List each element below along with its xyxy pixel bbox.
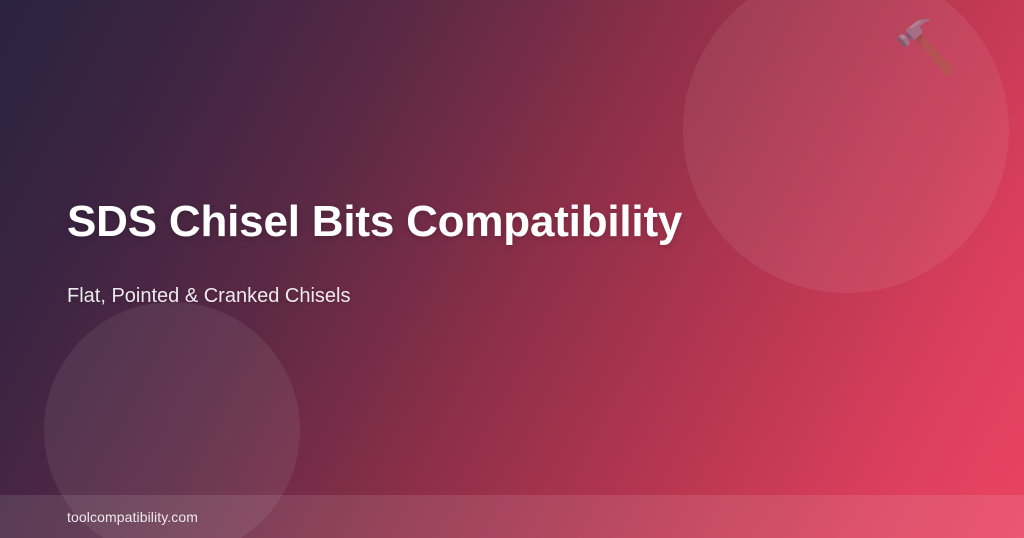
page-subtitle: Flat, Pointed & Cranked Chisels [67,248,787,309]
footer-bar: toolcompatibility.com [0,495,1024,538]
hammer-icon: 🔨 [893,22,958,74]
page-title: SDS Chisel Bits Compatibility [67,196,787,248]
banner-text-block: SDS Chisel Bits Compatibility Flat, Poin… [67,196,787,309]
hero-banner: 🔨 SDS Chisel Bits Compatibility Flat, Po… [0,0,1024,538]
footer-site-url: toolcompatibility.com [0,509,198,525]
